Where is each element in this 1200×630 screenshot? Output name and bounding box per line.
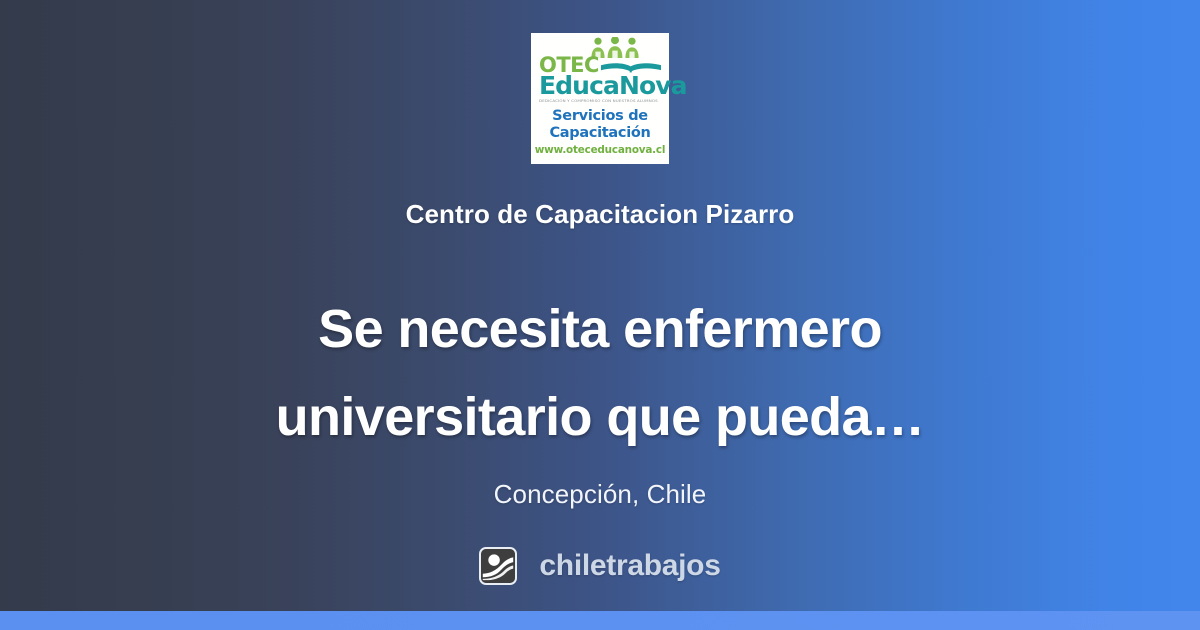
logo-wordmark: OTEC EducaNova DEDICACIÓN Y COMPROMISO C… [531, 56, 669, 104]
site-brand: chiletrabajos [0, 547, 1200, 585]
company-name: Centro de Capacitacion Pizarro [0, 199, 1200, 230]
job-location: Concepción, Chile [0, 479, 1200, 510]
logo-services-line-1: Servicios de [549, 108, 650, 125]
job-title: Se necesita enfermero universitario que … [100, 285, 1100, 461]
job-title-line-1: Se necesita enfermero [100, 285, 1100, 373]
job-title-line-2: universitario que pueda… [100, 373, 1100, 461]
share-card: OTEC EducaNova DEDICACIÓN Y COMPROMISO C… [0, 0, 1200, 630]
logo-educanova-text: EducaNova [539, 74, 661, 98]
logo-tagline: DEDICACIÓN Y COMPROMISO CON NUESTROS ALU… [539, 98, 663, 104]
site-brand-name: chiletrabajos [539, 549, 720, 583]
bottom-accent-bar [0, 611, 1200, 630]
company-logo-card: OTEC EducaNova DEDICACIÓN Y COMPROMISO C… [531, 33, 669, 164]
logo-services-text: Servicios de Capacitación [549, 108, 650, 142]
logo-services-line-2: Capacitación [549, 125, 650, 142]
logo-website-url: www.oteceducanova.cl [535, 144, 665, 157]
chiletrabajos-person-logo-icon [479, 547, 517, 585]
